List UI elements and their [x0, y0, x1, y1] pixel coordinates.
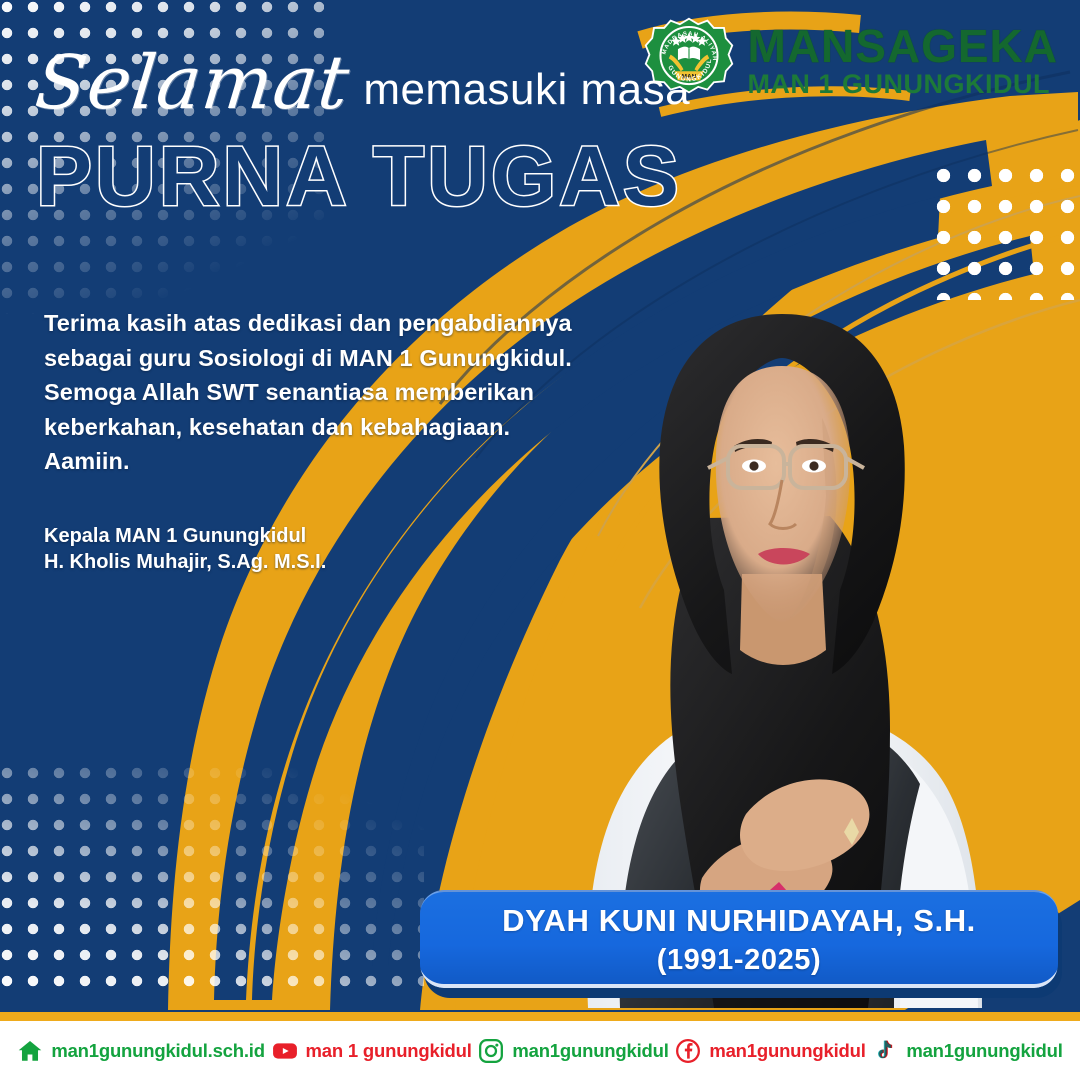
message-line-1: Terima kasih atas dedikasi dan pengabdia… — [44, 306, 584, 341]
signoff-name: H. Kholis Muhajir, S.Ag. M.S.I. — [44, 549, 584, 575]
social-youtube[interactable]: man 1 gunungkidul — [272, 1038, 472, 1064]
social-tiktok[interactable]: man1gunungkidul — [872, 1038, 1062, 1064]
social-facebook[interactable]: man1gunungkidul — [675, 1038, 865, 1064]
message-line-4: keberkahan, kesehatan dan kebahagiaan. — [44, 410, 584, 445]
footer-gold-rule — [0, 1012, 1080, 1021]
headline-block: Selamat memasuki masa PURNA TUGAS — [36, 46, 690, 218]
photo-iris-left — [749, 461, 758, 470]
home-icon — [17, 1038, 43, 1064]
brand-lockup: MAN MADRASAH ALIYAH NEGERI 1 GUNUNGKIDUL… — [643, 16, 1058, 108]
social-youtube-handle: man 1 gunungkidul — [306, 1040, 472, 1062]
facebook-icon — [675, 1038, 701, 1064]
social-instagram[interactable]: man1gunungkidul — [478, 1038, 668, 1064]
honoree-years: (1991-2025) — [657, 944, 822, 977]
photo-iris-right — [809, 461, 818, 470]
signoff-block: Kepala MAN 1 Gunungkidul H. Kholis Muhaj… — [44, 523, 584, 576]
brand-text-block: MANSAGEKA MAN 1 GUNUNGKIDUL — [747, 23, 1058, 102]
social-website[interactable]: man1gunungkidul.sch.id — [17, 1038, 265, 1064]
headline-main: PURNA TUGAS — [36, 134, 690, 218]
social-instagram-handle: man1gunungkidul — [512, 1040, 668, 1062]
social-tiktok-handle: man1gunungkidul — [906, 1040, 1062, 1062]
banner-face: DYAH KUNI NURHIDAYAH, S.H. (1991-2025) — [420, 890, 1058, 988]
poster-canvas: MAN MADRASAH ALIYAH NEGERI 1 GUNUNGKIDUL… — [0, 0, 1080, 1080]
honoree-name-banner: DYAH KUNI NURHIDAYAH, S.H. (1991-2025) — [420, 890, 1058, 988]
tiktok-icon — [872, 1038, 898, 1064]
message-line-3: Semoga Allah SWT senantiasa memberikan — [44, 375, 584, 410]
message-block: Terima kasih atas dedikasi dan pengabdia… — [44, 306, 584, 575]
headline-script: Selamat — [32, 46, 353, 120]
instagram-icon — [478, 1038, 504, 1064]
social-facebook-handle: man1gunungkidul — [709, 1040, 865, 1062]
headline-thin: memasuki masa — [363, 68, 690, 120]
brand-subtitle: MAN 1 GUNUNGKIDUL — [747, 71, 1058, 98]
youtube-icon — [272, 1038, 298, 1064]
message-line-2: sebagai guru Sosiologi di MAN 1 Gunungki… — [44, 341, 584, 376]
brand-name: MANSAGEKA — [747, 23, 1058, 69]
honoree-name: DYAH KUNI NURHIDAYAH, S.H. — [502, 903, 976, 939]
headline-top-row: Selamat memasuki masa — [36, 46, 690, 120]
message-line-5: Aamiin. — [44, 444, 584, 479]
footer-social-bar: man1gunungkidul.sch.id man 1 gunungkidul… — [0, 1021, 1080, 1080]
social-website-handle: man1gunungkidul.sch.id — [51, 1040, 265, 1062]
signoff-role: Kepala MAN 1 Gunungkidul — [44, 523, 584, 549]
school-crest-logo: MAN MADRASAH ALIYAH NEGERI 1 GUNUNGKIDUL — [643, 16, 735, 108]
